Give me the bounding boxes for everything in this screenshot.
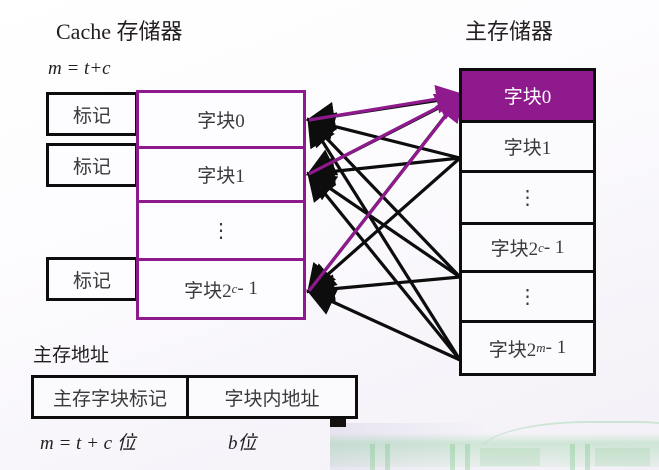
cache-tag-box-0: 标记 — [46, 92, 138, 136]
watermark-block — [480, 448, 540, 466]
memory-row-block-0: 字块0 — [462, 71, 593, 123]
memory-row-label: 字块1 — [504, 133, 552, 160]
memory-row-block-2c: 字块2c - 1 — [462, 225, 593, 273]
vertical-ellipsis-icon: ⋮ — [518, 287, 538, 307]
memory-row-ellipsis-2: ⋮ — [462, 273, 593, 323]
memory-row-block-1: 字块1 — [462, 123, 593, 173]
cache-block-column: 字块0 字块1 ⋮ 字块2c - 1 — [136, 90, 306, 320]
cache-tag-box-2: 标记 — [46, 257, 138, 301]
main-memory-column: 字块0 字块1 ⋮ 字块2c - 1 ⋮ 字块2m - 1 — [459, 68, 596, 376]
address-caption: 主存地址 — [33, 340, 109, 367]
address-tag-bits: m = t + c 位 — [40, 428, 136, 455]
address-bar: 主存字块标记 字块内地址 — [31, 375, 358, 419]
cache-row-block-0: 字块0 — [139, 93, 303, 149]
cache-row-block-last: 字块2c - 1 — [139, 261, 303, 317]
address-field-offset: 字块内地址 — [189, 378, 355, 416]
address-offset-bits: b位 — [228, 428, 257, 455]
watermark-pillar — [570, 444, 575, 470]
cache-title: Cache 存储器 — [56, 14, 182, 46]
cache-tag-label: 标记 — [73, 152, 111, 179]
watermark-pillar — [370, 444, 375, 470]
watermark-block — [595, 448, 650, 466]
cache-row-block-1: 字块1 — [139, 149, 303, 203]
memory-row-block-2m: 字块2m - 1 — [462, 323, 593, 373]
memory-row-label: 字块0 — [504, 82, 552, 109]
cache-row-suffix: - 1 — [237, 278, 258, 300]
vertical-ellipsis-icon: ⋮ — [211, 221, 231, 241]
cache-tag-box-1: 标记 — [46, 143, 138, 187]
memory-row-ellipsis-1: ⋮ — [462, 173, 593, 225]
cache-tag-label: 标记 — [73, 101, 111, 128]
watermark-arc — [480, 421, 659, 470]
vertical-ellipsis-icon: ⋮ — [518, 188, 538, 208]
memory-row-label: 字块2 — [489, 335, 537, 362]
watermark-band — [330, 433, 659, 467]
decorative-watermark — [330, 415, 659, 470]
watermark-pillar — [385, 444, 390, 470]
cache-row-label: 字块1 — [197, 161, 245, 188]
cache-row-label: 字块0 — [197, 106, 245, 133]
cache-row-label: 字块2 — [184, 276, 232, 303]
address-field-tag: 主存字块标记 — [34, 378, 189, 416]
cache-tag-label: 标记 — [73, 266, 111, 293]
memory-row-label: 字块2 — [491, 234, 539, 261]
watermark-pillar — [450, 444, 455, 470]
memory-row-suffix: - 1 — [544, 237, 565, 259]
cache-formula: m = t+c — [48, 58, 111, 80]
memory-row-suffix: - 1 — [546, 337, 567, 359]
memory-row-exponent: m — [536, 340, 545, 356]
slide-canvas: Cache 存储器 主存储器 m = t+c 标记 标记 标记 字块0 字块1 … — [0, 0, 659, 470]
watermark-sweep — [330, 423, 659, 470]
watermark-pillar — [585, 444, 590, 470]
cache-row-ellipsis: ⋮ — [139, 203, 303, 261]
watermark-pillar — [465, 444, 470, 470]
memory-title: 主存储器 — [465, 14, 553, 46]
